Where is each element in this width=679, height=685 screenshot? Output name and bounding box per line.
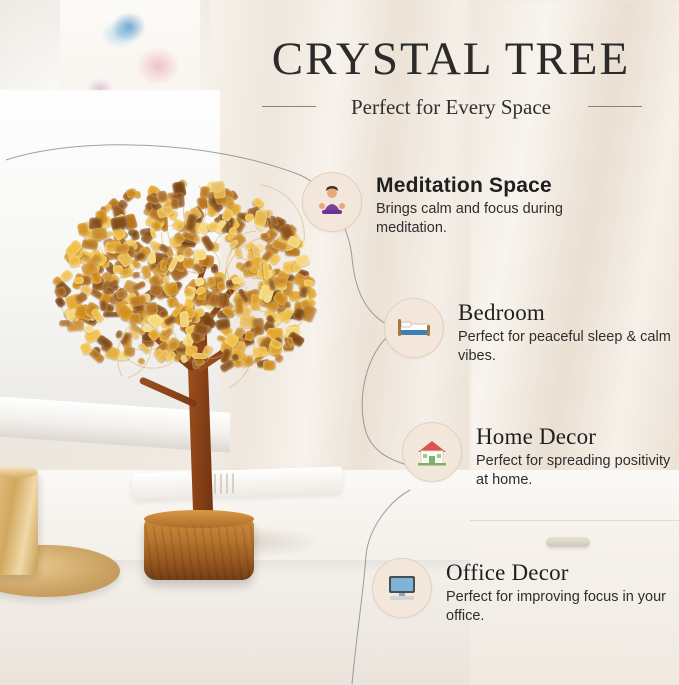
crystal-chip (99, 300, 107, 312)
crystal-chip (123, 347, 134, 357)
crystal-chip (207, 277, 216, 287)
crystal-chip (59, 320, 71, 326)
house-icon (402, 422, 462, 482)
crystal-chip (231, 276, 243, 284)
feature-meditation-space: Meditation Space Brings calm and focus d… (302, 172, 606, 238)
crystal-chip (115, 242, 131, 253)
feature-title: Office Decor (446, 560, 676, 586)
bed-icon (384, 298, 444, 358)
computer-monitor-icon (372, 558, 432, 618)
crystal-canopy (50, 180, 330, 410)
crystal-chip (263, 263, 270, 280)
feature-description: Brings calm and focus during meditation. (376, 200, 606, 238)
feature-home-decor: Home Decor Perfect for spreading positiv… (402, 422, 679, 490)
crystal-chip (263, 360, 275, 371)
feature-description: Perfect for spreading positivity at home… (476, 452, 679, 490)
feature-title: Meditation Space (376, 174, 606, 198)
drawer-knob (546, 537, 590, 547)
feature-text: Home Decor Perfect for spreading positiv… (476, 422, 679, 490)
feature-bedroom: Bedroom Perfect for peaceful sleep & cal… (384, 298, 679, 366)
crystal-tree (40, 180, 340, 600)
crystal-chip (299, 287, 307, 299)
crystal-chip (213, 181, 226, 199)
feature-text: Bedroom Perfect for peaceful sleep & cal… (458, 298, 679, 366)
gold-cup (0, 470, 38, 575)
tree-base-grain (144, 526, 254, 580)
feature-title: Home Decor (476, 424, 679, 450)
meditation-person-icon (302, 172, 362, 232)
crystal-chip (145, 301, 159, 315)
crystal-chip (91, 228, 107, 241)
page-subtitle: Perfect for Every Space (236, 95, 666, 120)
crystal-chip (192, 353, 208, 359)
crystal-chip (293, 263, 301, 271)
crystal-chip (77, 222, 89, 236)
crystal-chip (171, 198, 179, 209)
crystal-chip (68, 255, 80, 267)
product-infographic: CRYSTAL TREE Perfect for Every Space Med… (0, 0, 679, 685)
crystal-chip (74, 277, 84, 285)
feature-description: Perfect for improving focus in your offi… (446, 588, 676, 626)
page-title: CRYSTAL TREE (236, 36, 666, 83)
crystal-chip (252, 318, 264, 335)
feature-office-decor: Office Decor Perfect for improving focus… (372, 558, 676, 626)
feature-title: Bedroom (458, 300, 679, 326)
feature-text: Meditation Space Brings calm and focus d… (376, 172, 606, 238)
crystal-chip (116, 289, 127, 299)
feature-text: Office Decor Perfect for improving focus… (446, 558, 676, 626)
crystal-chip (304, 279, 315, 287)
feature-description: Perfect for peaceful sleep & calm vibes. (458, 328, 679, 366)
crystal-chip (194, 249, 206, 260)
